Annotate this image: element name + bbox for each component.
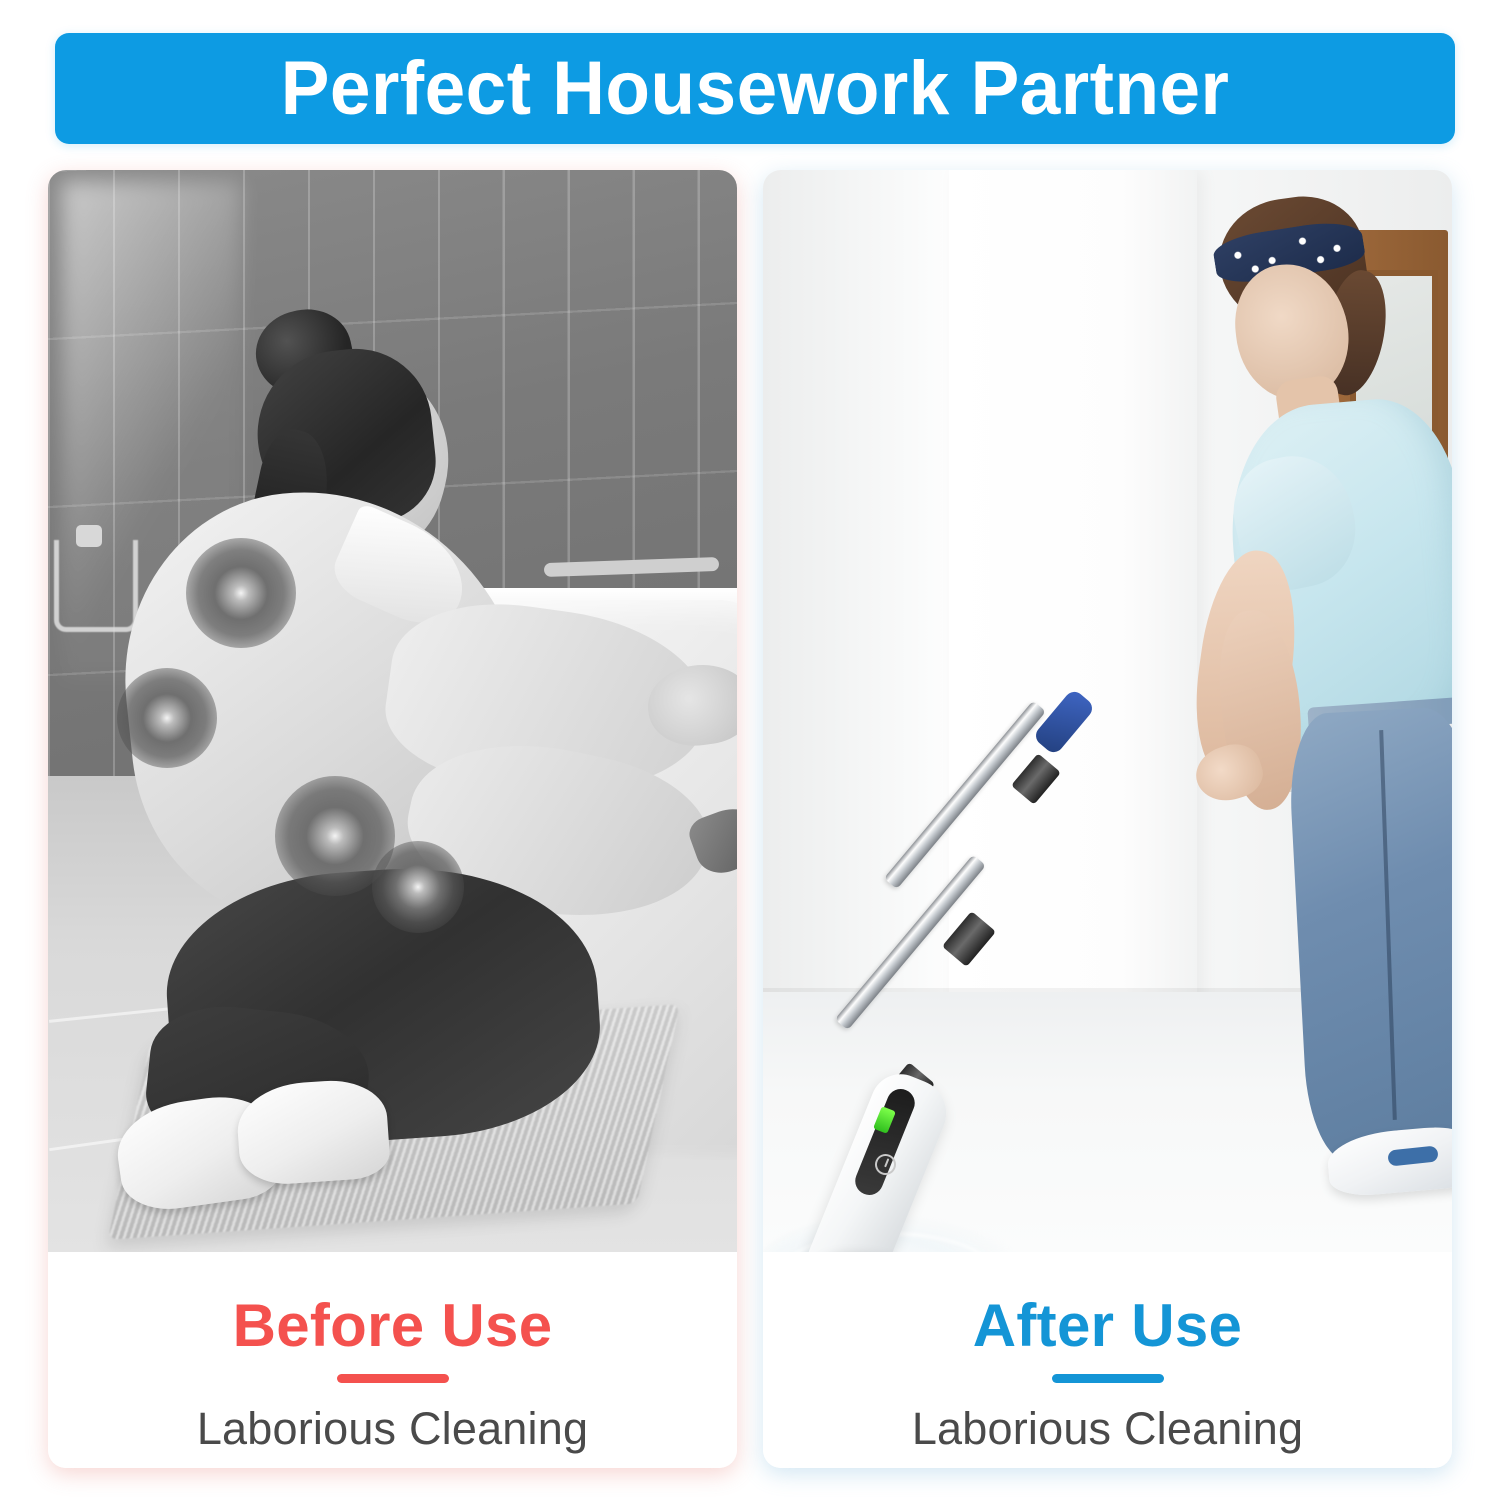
product-comparison-image: Perfect Housework Partner: [0, 0, 1500, 1500]
after-use-photo: [763, 170, 1452, 1252]
bright-room-scene: [763, 170, 1452, 1252]
blue-jeans: [1286, 705, 1452, 1164]
after-use-underline: [1052, 1374, 1164, 1383]
woman-standing: [1158, 190, 1452, 1200]
before-use-subtitle: Laborious Cleaning: [197, 1403, 588, 1455]
left-wall: [763, 170, 970, 1014]
woman-crouching: [108, 310, 668, 1190]
after-use-card: After Use Laborious Cleaning: [763, 170, 1452, 1468]
bathroom-scene: [48, 170, 737, 1252]
page-title: Perfect Housework Partner: [281, 51, 1230, 127]
before-use-card: Before Use Laborious Cleaning: [48, 170, 737, 1468]
before-use-underline: [337, 1374, 449, 1383]
comparison-panels: Before Use Laborious Cleaning: [48, 170, 1452, 1468]
header-banner: Perfect Housework Partner: [55, 33, 1455, 144]
after-use-subtitle: Laborious Cleaning: [912, 1403, 1303, 1455]
after-use-caption: After Use Laborious Cleaning: [763, 1252, 1452, 1468]
before-use-title: Before Use: [233, 1296, 553, 1356]
after-use-title: After Use: [973, 1296, 1242, 1356]
before-use-caption: Before Use Laborious Cleaning: [48, 1252, 737, 1468]
before-use-photo: [48, 170, 737, 1252]
